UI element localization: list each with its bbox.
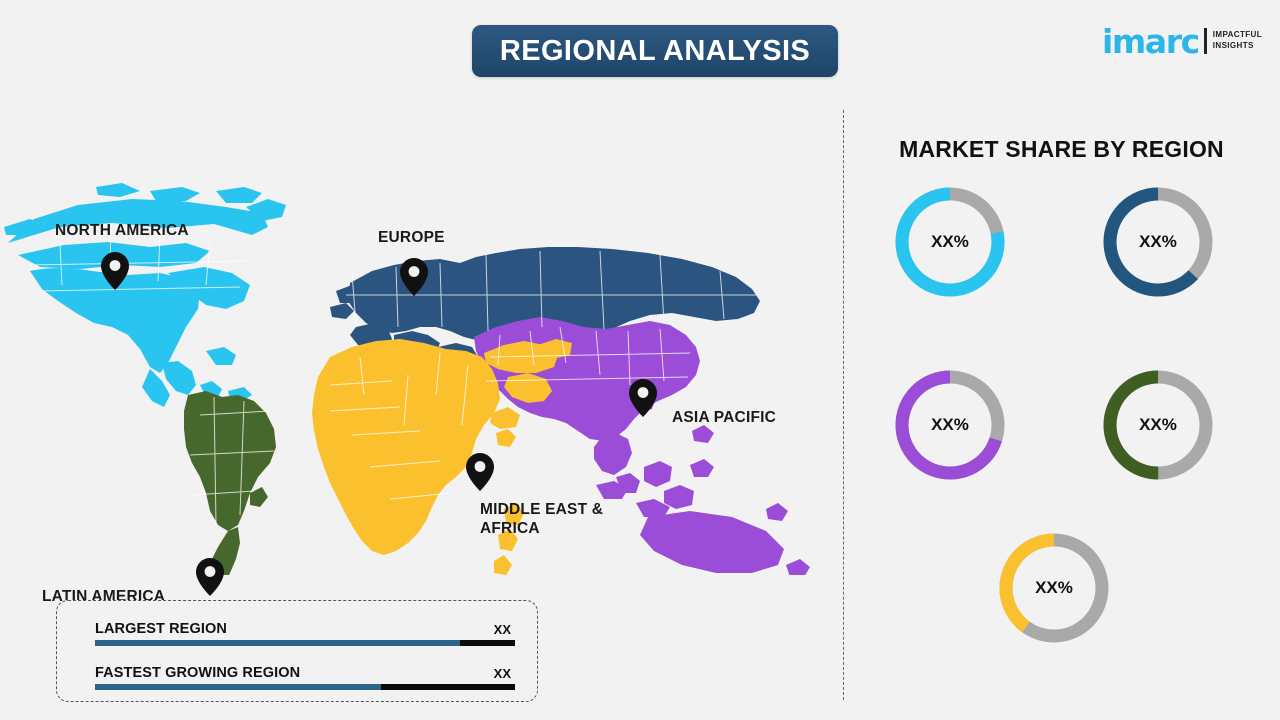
map-label-europe: EUROPE <box>378 228 445 247</box>
map-label-north-america: NORTH AMERICA <box>55 221 189 240</box>
donut-chart-asia-pacific: XX% <box>890 365 1010 485</box>
legend-bar-track-largest-region <box>95 640 515 646</box>
logo-wordmark: imarc <box>1102 25 1199 58</box>
legend-row-fastest-growing-region: FASTEST GROWING REGION XX <box>95 657 515 701</box>
world-map-area: NORTH AMERICA EUROPE ASIA PACIFIC MIDDLE… <box>0 95 830 575</box>
market-share-title: MARKET SHARE BY REGION <box>843 136 1280 163</box>
donut-chart-middle-east-africa: XX% <box>994 528 1114 648</box>
world-map-graphic <box>0 95 830 575</box>
donut-value-europe: XX% <box>1098 182 1218 302</box>
donut-chart-latin-america: XX% <box>1098 365 1218 485</box>
map-label-middle-east-africa: MIDDLE EAST & AFRICA <box>480 500 603 539</box>
donut-chart-north-america: XX% <box>890 182 1010 302</box>
legend-bar-fill-largest-region <box>95 640 460 646</box>
donut-value-middle-east-africa: XX% <box>994 528 1114 648</box>
page-title-banner: REGIONAL ANALYSIS <box>472 25 838 77</box>
legend-row-largest-region: LARGEST REGION XX <box>95 613 515 657</box>
imarc-logo: imarc IMPACTFUL INSIGHTS <box>1102 22 1262 60</box>
donut-value-north-america: XX% <box>890 182 1010 302</box>
page-title: REGIONAL ANALYSIS <box>500 35 810 68</box>
logo-tagline-line2: INSIGHTS <box>1213 41 1262 52</box>
map-pin-asia-pacific-icon[interactable] <box>629 379 657 417</box>
legend-label-largest-region: LARGEST REGION <box>95 621 227 637</box>
map-pin-middle-east-africa-icon[interactable] <box>466 453 494 491</box>
map-pin-europe-icon[interactable] <box>400 258 428 296</box>
legend-value-largest-region: XX <box>494 622 511 637</box>
donut-value-asia-pacific: XX% <box>890 365 1010 485</box>
region-summary-box: LARGEST REGION XX FASTEST GROWING REGION… <box>56 600 538 702</box>
market-share-panel: MARKET SHARE BY REGION XX% XX% XX% XX% X… <box>843 110 1280 710</box>
map-label-asia-pacific: ASIA PACIFIC <box>672 408 776 427</box>
map-pin-north-america-icon[interactable] <box>101 252 129 290</box>
legend-bar-fill-fastest-growing-region <box>95 684 381 690</box>
logo-divider-bar <box>1204 28 1207 54</box>
logo-tagline-line1: IMPACTFUL <box>1213 30 1262 41</box>
donut-value-latin-america: XX% <box>1098 365 1218 485</box>
logo-tagline: IMPACTFUL INSIGHTS <box>1213 30 1262 52</box>
map-pin-latin-america-icon[interactable] <box>196 558 224 596</box>
legend-value-fastest-growing-region: XX <box>494 666 511 681</box>
donut-chart-europe: XX% <box>1098 182 1218 302</box>
legend-bar-track-fastest-growing-region <box>95 684 515 690</box>
map-region-north-america <box>4 183 286 407</box>
map-region-latin-america <box>184 391 276 575</box>
legend-label-fastest-growing-region: FASTEST GROWING REGION <box>95 665 300 681</box>
